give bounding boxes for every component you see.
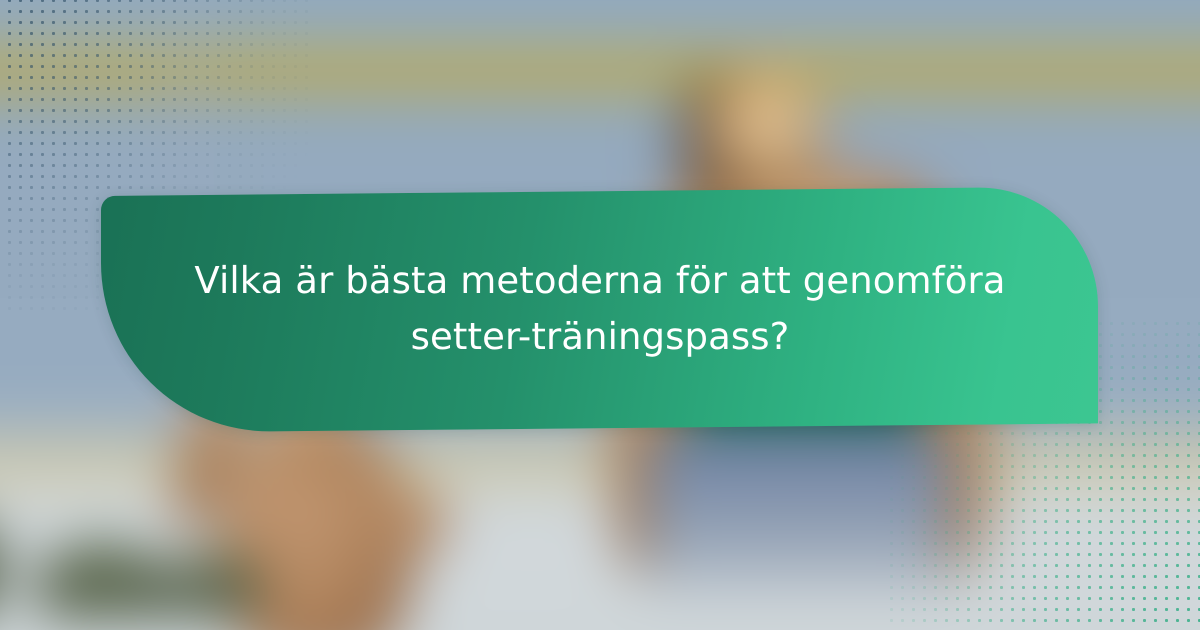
share-card: Vilka är bästa metoderna för att genomfö… xyxy=(0,0,1200,630)
foliage-left xyxy=(38,543,165,617)
player-right-head xyxy=(690,71,826,198)
foliage-left-small xyxy=(160,554,261,618)
headline-banner: Vilka är bästa metoderna för att genomfö… xyxy=(101,186,1098,433)
player-left-hand xyxy=(383,490,449,554)
headline-title: Vilka är bästa metoderna för att genomfö… xyxy=(190,253,1010,365)
